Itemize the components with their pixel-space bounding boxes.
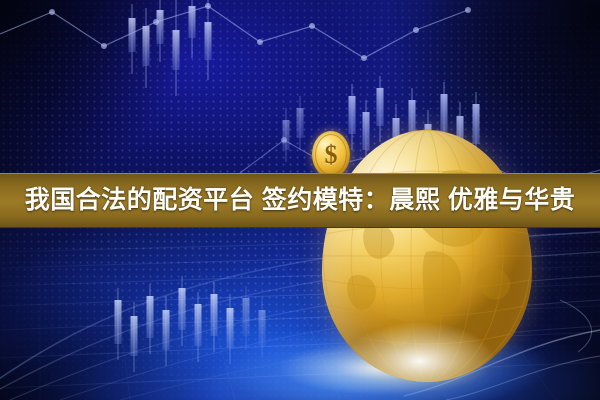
promo-banner-image: $ 我国合法的配资平台 签约模特：晨熙 优雅与华贵 [0,0,600,400]
banner-top-border [0,173,600,174]
candlesticks-top [129,0,212,96]
dollar-sign-icon: $ [312,131,350,178]
globe-highlight [335,301,520,382]
banner-bottom-border [0,227,600,228]
banner-headline-text: 我国合法的配资平台 签约模特：晨熙 优雅与华贵 [0,188,600,213]
trendline-upper-nodes [49,3,471,61]
candlesticks-bottom [115,276,266,372]
trendline-upper [0,6,468,58]
headline-banner: 我国合法的配资平台 签约模特：晨熙 优雅与华贵 [0,173,600,228]
gold-dollar-coin: $ [312,131,350,178]
